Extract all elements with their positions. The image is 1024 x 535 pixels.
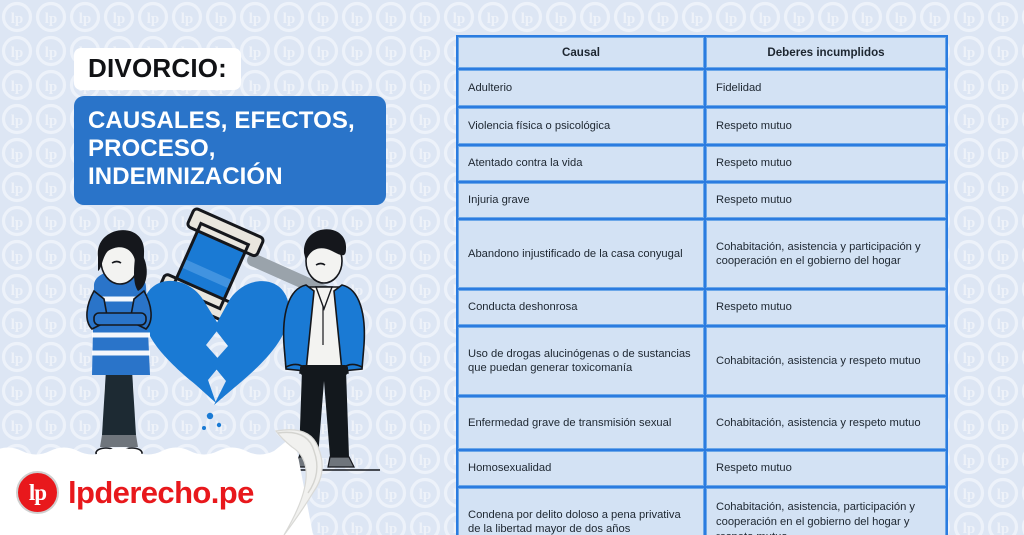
cell-causal: Condena por delito doloso a pena privati… <box>458 488 704 535</box>
title-block: DIVORCIO: CAUSALES, EFECTOS, PROCESO, IN… <box>74 48 386 205</box>
cell-deberes: Cohabitación, asistencia y participación… <box>706 220 946 288</box>
cell-deberes: Fidelidad <box>706 70 946 106</box>
lp-logo-icon: lp <box>16 471 59 514</box>
table-row: AdulterioFidelidad <box>458 70 946 106</box>
cell-deberes: Cohabitación, asistencia y respeto mutuo <box>706 327 946 395</box>
cell-causal: Enfermedad grave de transmisión sexual <box>458 397 704 449</box>
cell-deberes: Respeto mutuo <box>706 451 946 486</box>
table-row: Violencia física o psicológicaRespeto mu… <box>458 108 946 144</box>
title-kicker: DIVORCIO: <box>74 48 241 90</box>
table-row: Abandono injustificado de la casa conyug… <box>458 220 946 288</box>
cell-deberes: Cohabitación, asistencia, participación … <box>706 488 946 535</box>
table-row: Atentado contra la vidaRespeto mutuo <box>458 146 946 181</box>
page-title: CAUSALES, EFECTOS, PROCESO, INDEMNIZACIÓ… <box>74 96 386 205</box>
heart-fragment <box>207 413 213 419</box>
cell-causal: Injuria grave <box>458 183 704 218</box>
table-body: AdulterioFidelidadViolencia física o psi… <box>458 70 946 535</box>
infographic-canvas: lp DIVORCIO: CAUSALES, EFECTOS, PROCESO,… <box>0 0 1024 535</box>
table-container: Causal Deberes incumplidos AdulterioFide… <box>456 35 942 535</box>
brand-logo[interactable]: lp lpderecho.pe <box>16 471 254 514</box>
table-row: Enfermedad grave de transmisión sexualCo… <box>458 397 946 449</box>
table-row: Conducta deshonrosaRespeto mutuo <box>458 290 946 325</box>
cell-causal: Uso de drogas alucinógenas o de sustanci… <box>458 327 704 395</box>
table-row: Injuria graveRespeto mutuo <box>458 183 946 218</box>
cell-deberes: Cohabitación, asistencia y respeto mutuo <box>706 397 946 449</box>
cell-deberes: Respeto mutuo <box>706 290 946 325</box>
woman-figure <box>87 230 151 458</box>
cell-causal: Homosexualidad <box>458 451 704 486</box>
table-row: Uso de drogas alucinógenas o de sustanci… <box>458 327 946 395</box>
column-header-deberes: Deberes incumplidos <box>706 37 946 68</box>
cell-causal: Violencia física o psicológica <box>458 108 704 144</box>
brand-name: lpderecho.pe <box>68 475 254 511</box>
table-row: Condena por delito doloso a pena privati… <box>458 488 946 535</box>
table-row: HomosexualidadRespeto mutuo <box>458 451 946 486</box>
cell-causal: Adulterio <box>458 70 704 106</box>
column-header-causal: Causal <box>458 37 704 68</box>
cell-deberes: Respeto mutuo <box>706 183 946 218</box>
causales-divorcio-table: Causal Deberes incumplidos AdulterioFide… <box>456 35 948 535</box>
cell-causal: Atentado contra la vida <box>458 146 704 181</box>
cell-deberes: Respeto mutuo <box>706 108 946 144</box>
cell-causal: Abandono injustificado de la casa conyug… <box>458 220 704 288</box>
cell-causal: Conducta deshonrosa <box>458 290 704 325</box>
cell-deberes: Respeto mutuo <box>706 146 946 181</box>
table-header-row: Causal Deberes incumplidos <box>458 37 946 68</box>
